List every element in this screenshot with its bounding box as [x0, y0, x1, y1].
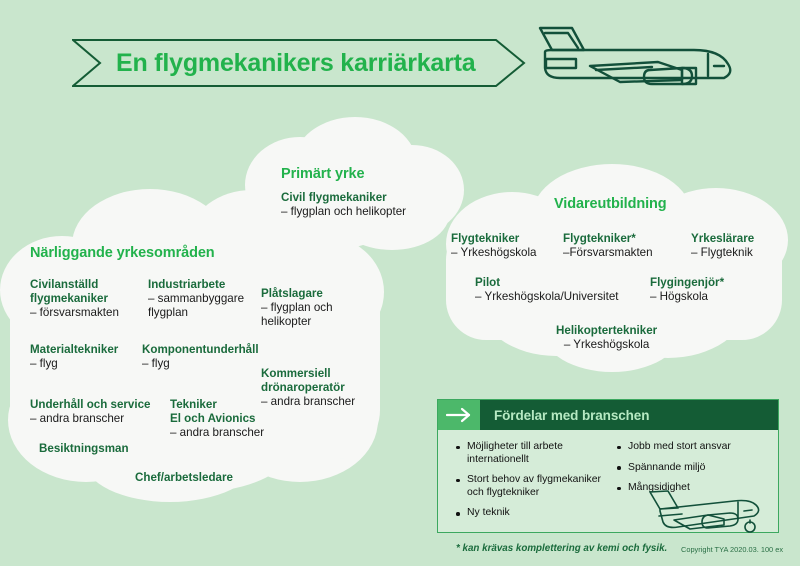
entry-subtitle: – Yrkeshögskola: [556, 338, 657, 352]
airplane-outline-icon-small: [638, 489, 766, 537]
entry-title: Pilot: [475, 276, 619, 290]
entry-title: Tekniker: [170, 398, 264, 412]
benefit-item: Spännande miljö: [615, 462, 778, 475]
entry-underhall-och-service: Underhåll och service – andra branscher: [30, 398, 151, 426]
entry-flygingenjor: Flygingenjör* – Högskola: [650, 276, 724, 304]
entry-komponentunderhall: Komponentunderhåll – flyg: [142, 343, 259, 371]
entry-yrkeslarare: Yrkeslärare – Flygteknik: [691, 232, 754, 260]
entry-subtitle-2: helikopter: [261, 315, 333, 329]
footnote: * kan krävas komplettering av kemi och f…: [456, 543, 667, 554]
entry-subtitle: – Högskola: [650, 290, 724, 304]
entry-title: Flygingenjör*: [650, 276, 724, 290]
entry-subtitle: – flygplan och: [261, 301, 333, 315]
benefits-title: Fördelar med branschen: [480, 408, 649, 423]
entry-subtitle: – andra branscher: [30, 412, 151, 426]
entry-title: Materialtekniker: [30, 343, 118, 357]
entry-subtitle: – flyg: [30, 357, 118, 371]
benefit-item: Stort behov av flygmekaniker och flygtek…: [454, 474, 607, 499]
entry-title: Industriarbete: [148, 278, 244, 292]
benefit-item: Jobb med stort ansvar: [615, 441, 778, 454]
entry-title: Besiktningsman: [39, 442, 129, 456]
entry-subtitle: – flygplan och helikopter: [281, 205, 406, 219]
entry-helikoptertekniker: Helikoptertekniker – Yrkeshögskola: [556, 324, 657, 352]
entry-kommersiell-dronaroperator: Kommersiell drönaroperatör – andra brans…: [261, 367, 355, 410]
entry-title-2: drönaroperatör: [261, 381, 355, 395]
entry-subtitle-2: flygplan: [148, 306, 244, 320]
entry-title: Underhåll och service: [30, 398, 151, 412]
entry-title: Civil flygmekaniker: [281, 191, 406, 205]
entry-civilanstalld-flygmekaniker: Civilanställd flygmekaniker – försvarsma…: [30, 278, 119, 321]
entry-civil-flygmekaniker: Civil flygmekaniker – flygplan och helik…: [281, 191, 406, 219]
entry-subtitle: – flyg: [142, 357, 259, 371]
entry-title: Helikoptertekniker: [556, 324, 657, 338]
entry-title: Chef/arbetsledare: [135, 471, 233, 485]
entry-title-2: flygmekaniker: [30, 292, 119, 306]
career-map-poster: En flygmekanikers karriärkarta: [0, 0, 800, 566]
entry-industriarbete: Industriarbete – sammanbyggare flygplan: [148, 278, 244, 321]
entry-subtitle: – Yrkeshögskola: [451, 246, 537, 260]
entry-title-2: El och Avionics: [170, 412, 264, 426]
entry-subtitle: – sammanbyggare: [148, 292, 244, 306]
entry-title: Civilanställd: [30, 278, 119, 292]
benefit-item: Möjligheter till arbete internationellt: [454, 441, 607, 466]
entry-subtitle: – andra branscher: [170, 426, 264, 440]
entry-title: Flygtekniker: [451, 232, 537, 246]
title-banner: En flygmekanikers karriärkarta: [72, 39, 527, 87]
entry-chef-arbetsledare: Chef/arbetsledare: [135, 471, 233, 485]
entry-title: Kommersiell: [261, 367, 355, 381]
benefits-header: Fördelar med branschen: [438, 400, 778, 430]
heading-primart-yrke: Primärt yrke: [281, 166, 364, 182]
entry-title: Plåtslagare: [261, 287, 333, 301]
airplane-outline-icon: [512, 26, 782, 104]
entry-subtitle: – försvarsmakten: [30, 306, 119, 320]
entry-pilot: Pilot – Yrkeshögskola/Universitet: [475, 276, 619, 304]
entry-materialtekniker: Materialtekniker – flyg: [30, 343, 118, 371]
entry-flygtekniker-yh: Flygtekniker – Yrkeshögskola: [451, 232, 537, 260]
entry-besiktningsman: Besiktningsman: [39, 442, 129, 456]
page-title: En flygmekanikers karriärkarta: [116, 39, 476, 87]
benefit-item: Ny teknik: [454, 507, 607, 520]
entry-tekniker-el-och-avionics: Tekniker El och Avionics – andra bransch…: [170, 398, 264, 441]
cloud-primart-yrke: [245, 117, 464, 250]
entry-subtitle: – andra branscher: [261, 395, 355, 409]
arrow-right-icon: [438, 400, 480, 430]
heading-vidareutbildning: Vidareutbildning: [554, 196, 667, 212]
entry-subtitle: –Försvarsmakten: [563, 246, 653, 260]
copyright: Copyright TYA 2020.03. 100 ex: [681, 545, 783, 554]
heading-narliggande-yrkesomraden: Närliggande yrkesområden: [30, 245, 215, 261]
entry-subtitle: – Yrkeshögskola/Universitet: [475, 290, 619, 304]
entry-platslagare: Plåtslagare – flygplan och helikopter: [261, 287, 333, 330]
benefits-column-left: Möjligheter till arbete internationellt …: [438, 441, 607, 530]
entry-title: Flygtekniker*: [563, 232, 653, 246]
entry-flygtekniker-forsvarsmakten: Flygtekniker* –Försvarsmakten: [563, 232, 653, 260]
entry-subtitle: – Flygteknik: [691, 246, 754, 260]
entry-title: Yrkeslärare: [691, 232, 754, 246]
entry-title: Komponentunderhåll: [142, 343, 259, 357]
